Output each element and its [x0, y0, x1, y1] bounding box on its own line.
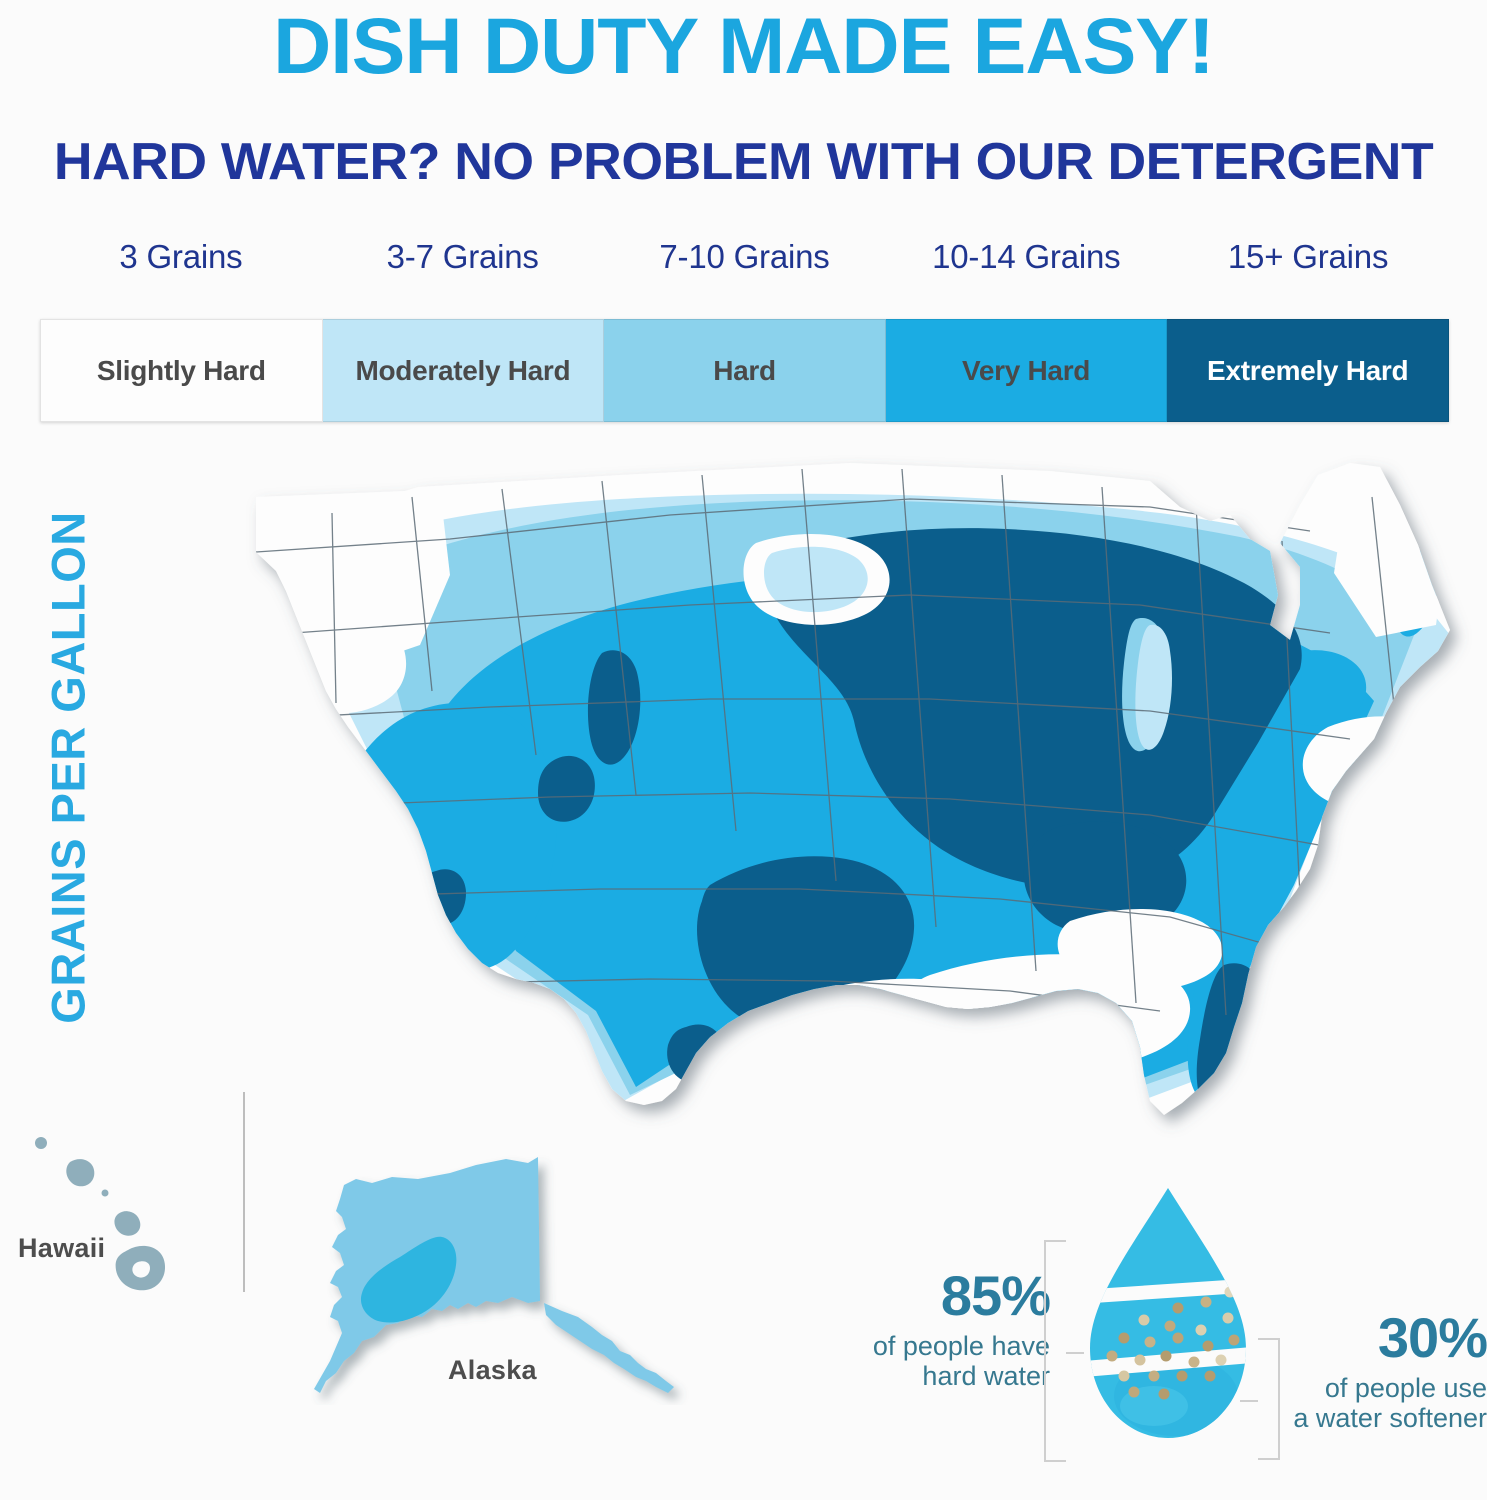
infographic-page: DISH DUTY MADE EASY! HARD WATER? NO PROB… — [0, 0, 1487, 1500]
stat-water-softener: 30% of people use a water softener — [1265, 1310, 1487, 1433]
stats-block: 85% of people have hard water — [840, 1180, 1487, 1500]
legend-grain-label-0: 3 Grains — [40, 238, 322, 300]
stat-water-softener-percent: 30% — [1265, 1310, 1487, 1366]
us-hardness-map[interactable] — [150, 455, 1480, 1175]
page-title: DISH DUTY MADE EASY! — [0, 6, 1487, 85]
water-droplet-icon — [1058, 1180, 1278, 1470]
hardness-legend: 3 Grains 3-7 Grains 7-10 Grains 10-14 Gr… — [40, 238, 1449, 422]
legend-cell-very-hard[interactable]: Very Hard — [886, 319, 1168, 422]
stat-hard-water-description: of people have hard water — [850, 1331, 1050, 1391]
legend-grain-label-1: 3-7 Grains — [322, 238, 604, 300]
legend-cell-slightly-hard[interactable]: Slightly Hard — [40, 319, 323, 422]
stat-water-softener-line2: a water softener — [1265, 1403, 1487, 1433]
stat-water-softener-description: of people use a water softener — [1265, 1373, 1487, 1433]
inset-divider — [243, 1092, 245, 1292]
legend-grain-label-4: 15+ Grains — [1167, 238, 1449, 300]
legend-color-bar: Slightly Hard Moderately Hard Hard Very … — [40, 319, 1449, 422]
legend-cell-moderately-hard[interactable]: Moderately Hard — [323, 319, 605, 422]
droplet-svg — [1058, 1180, 1278, 1470]
legend-grain-label-2: 7-10 Grains — [604, 238, 886, 300]
stat-hard-water-percent: 85% — [850, 1268, 1050, 1324]
axis-title-grains-per-gallon: GRAINS PER GALLON — [41, 488, 96, 1048]
alaska-label: Alaska — [448, 1355, 537, 1386]
legend-cell-extremely-hard[interactable]: Extremely Hard — [1167, 319, 1449, 422]
stat-water-softener-line1: of people use — [1265, 1373, 1487, 1403]
stat-hard-water-line1: of people have — [850, 1331, 1050, 1361]
legend-grain-label-3: 10-14 Grains — [885, 238, 1167, 300]
stat-hard-water: 85% of people have hard water — [850, 1268, 1050, 1391]
hawaii-islands — [35, 1137, 165, 1290]
page-subtitle: HARD WATER? NO PROBLEM WITH OUR DETERGEN… — [0, 136, 1487, 188]
legend-grain-labels: 3 Grains 3-7 Grains 7-10 Grains 10-14 Gr… — [40, 238, 1449, 300]
us-map-svg — [150, 455, 1480, 1175]
hawaii-label: Hawaii — [18, 1233, 105, 1264]
legend-cell-hard[interactable]: Hard — [604, 319, 886, 422]
droplet-body — [1058, 1180, 1278, 1470]
stat-hard-water-line2: hard water — [850, 1361, 1050, 1391]
